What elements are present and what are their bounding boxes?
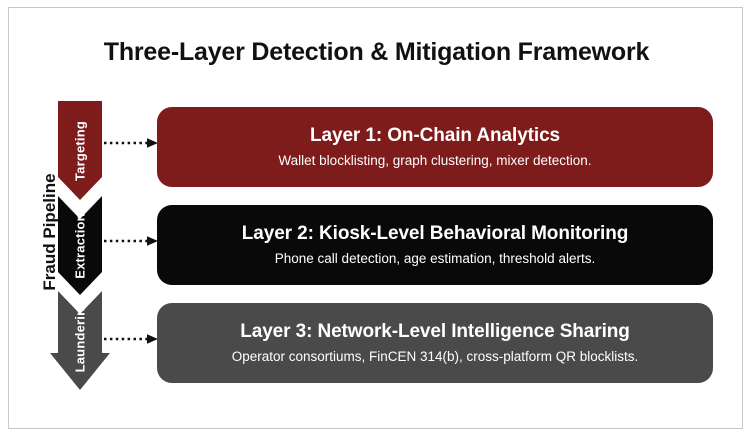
layer-subtitle: Phone call detection, age estimation, th… <box>275 250 595 268</box>
figure-title: Three-Layer Detection & Mitigation Frame… <box>0 38 753 67</box>
layer-subtitle: Operator consortiums, FinCEN 314(b), cro… <box>232 348 639 366</box>
layer-box-3[interactable]: Layer 3: Network-Level Intelligence Shar… <box>157 303 713 383</box>
pipeline-stage-extraction: Extraction <box>58 196 102 295</box>
pipeline-stage-label: Laundering <box>73 299 88 372</box>
pipeline-stage-label: Targeting <box>73 120 88 180</box>
layer-box-2[interactable]: Layer 2: Kiosk-Level Behavioral Monitori… <box>157 205 713 285</box>
pipeline-stage-label: Extraction <box>73 213 88 279</box>
diagram-canvas: Three-Layer Detection & Mitigation Frame… <box>0 0 753 438</box>
layer-subtitle: Wallet blocklisting, graph clustering, m… <box>278 152 591 170</box>
connector-targeting-to-layer-1 <box>104 137 160 149</box>
layer-title: Layer 3: Network-Level Intelligence Shar… <box>240 320 630 344</box>
connector-laundering-to-layer-3 <box>104 333 160 345</box>
layer-title: Layer 2: Kiosk-Level Behavioral Monitori… <box>242 222 628 246</box>
pipeline-stage-targeting: Targeting <box>58 101 102 200</box>
connector-extraction-to-layer-2 <box>104 235 160 247</box>
pipeline-stage-laundering: Laundering <box>58 291 102 390</box>
layer-box-1[interactable]: Layer 1: On-Chain Analytics Wallet block… <box>157 107 713 187</box>
layer-title: Layer 1: On-Chain Analytics <box>310 124 560 148</box>
fraud-pipeline-label: Fraud Pipeline <box>40 152 60 312</box>
